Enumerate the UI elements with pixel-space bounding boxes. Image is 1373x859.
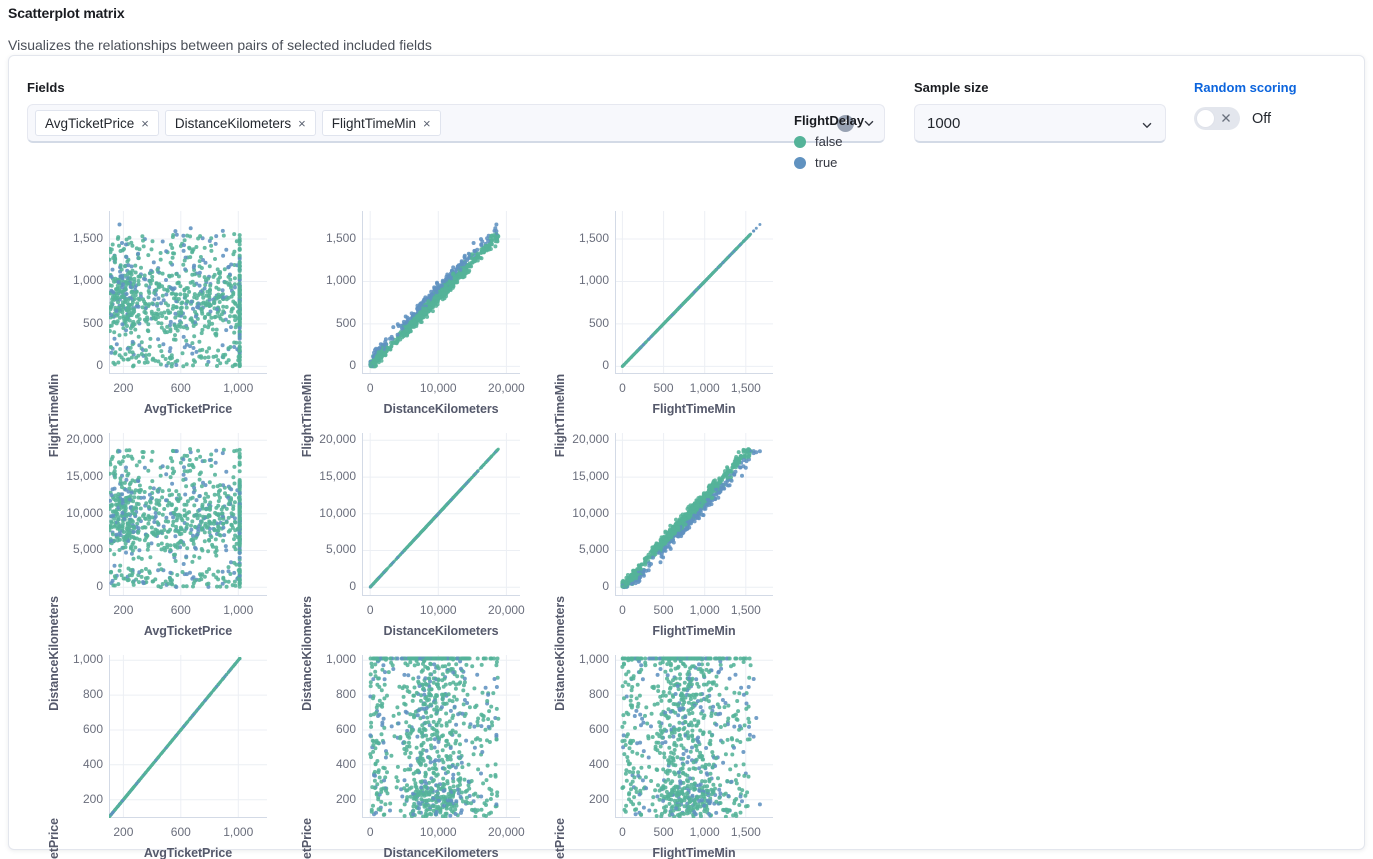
close-icon[interactable]: × [298, 117, 306, 130]
x-axis-tick: 0 [335, 603, 405, 617]
x-axis-label: FlightTimeMin [615, 402, 773, 416]
x-axis-label: AvgTicketPrice [109, 624, 267, 638]
x-axis-label: FlightTimeMin [615, 624, 773, 638]
matrix-cell[interactable]: DistanceKilometers 05,00010,00015,00020,… [274, 421, 527, 645]
y-axis-tick: 800 [43, 687, 103, 701]
y-axis-tick: 400 [43, 757, 103, 771]
sample-size-label: Sample size [914, 80, 1166, 95]
matrix-cell[interactable]: AvgTicketPrice 2004006008001,000 05001,0… [527, 643, 780, 859]
y-axis-tick: 500 [43, 316, 103, 330]
y-axis-tick: 600 [43, 722, 103, 736]
y-axis-tick: 800 [296, 687, 356, 701]
matrix-cell[interactable]: FlightTimeMin 05001,0001,500 2006001,000… [21, 199, 274, 423]
page-title: Scatterplot matrix [8, 5, 125, 21]
random-scoring-switch[interactable] [1194, 107, 1240, 130]
cross-icon [1219, 111, 1233, 125]
x-axis-label: AvgTicketPrice [109, 846, 267, 859]
y-axis-tick: 200 [296, 792, 356, 806]
y-axis-tick: 0 [296, 358, 356, 372]
y-axis-tick: 0 [296, 579, 356, 593]
y-axis-tick: 400 [296, 757, 356, 771]
y-axis-tick: 15,000 [549, 469, 609, 483]
y-axis-tick: 400 [549, 757, 609, 771]
y-axis-tick: 5,000 [549, 542, 609, 556]
fields-control: Fields AvgTicketPrice × DistanceKilomete… [27, 80, 885, 143]
y-axis-tick: 0 [549, 358, 609, 372]
scatter-plot-area [362, 211, 520, 374]
scatterplot-matrix-page: Scatterplot matrix Visualizes the relati… [0, 0, 1373, 859]
sample-size-control: Sample size 1000 [914, 80, 1166, 143]
field-pill-label: AvgTicketPrice [45, 116, 134, 131]
y-axis-tick: 1,000 [549, 652, 609, 666]
y-axis-tick: 15,000 [296, 469, 356, 483]
field-pill[interactable]: AvgTicketPrice × [35, 110, 159, 136]
matrix-cell[interactable]: FlightTimeMin 05001,0001,500 05001,0001,… [527, 199, 780, 423]
y-axis-tick: 1,000 [296, 273, 356, 287]
random-scoring-label[interactable]: Random scoring [1194, 80, 1354, 95]
y-axis-tick: 20,000 [43, 432, 103, 446]
legend: FlightDelay false true [794, 113, 864, 170]
matrix-row: FlightTimeMin 05001,0001,500 2006001,000… [21, 199, 1364, 423]
y-axis-tick: 1,000 [549, 273, 609, 287]
y-axis-tick: 10,000 [43, 506, 103, 520]
close-icon[interactable]: × [141, 117, 149, 130]
scatter-plot-area [109, 211, 267, 374]
legend-item-false[interactable]: false [794, 134, 864, 149]
x-axis-label: DistanceKilometers [362, 846, 520, 859]
scatter-plot-area [109, 655, 267, 818]
fields-label: Fields [27, 80, 885, 95]
legend-item-label: false [815, 134, 842, 149]
y-axis-tick: 10,000 [296, 506, 356, 520]
y-axis-tick: 20,000 [549, 432, 609, 446]
y-axis-tick: 0 [43, 358, 103, 372]
y-axis-label: AvgTicketPrice [47, 818, 61, 859]
matrix-cell[interactable]: DistanceKilometers 05,00010,00015,00020,… [21, 421, 274, 645]
field-pill-label: DistanceKilometers [175, 116, 291, 131]
legend-item-true[interactable]: true [794, 155, 864, 170]
y-axis-tick: 1,000 [43, 273, 103, 287]
y-axis-tick: 600 [549, 722, 609, 736]
x-axis-tick: 1,000 [203, 381, 273, 395]
y-axis-tick: 15,000 [43, 469, 103, 483]
y-axis-tick: 20,000 [296, 432, 356, 446]
y-axis-tick: 500 [296, 316, 356, 330]
y-axis-tick: 0 [43, 579, 103, 593]
matrix-cell[interactable]: DistanceKilometers 05,00010,00015,00020,… [527, 421, 780, 645]
sample-size-select[interactable]: 1000 [914, 104, 1166, 143]
x-axis-label: FlightTimeMin [615, 846, 773, 859]
y-axis-tick: 600 [296, 722, 356, 736]
fields-combobox[interactable]: AvgTicketPrice × DistanceKilometers × Fl… [27, 104, 885, 143]
matrix-row: AvgTicketPrice 2004006008001,000 2006001… [21, 643, 1364, 859]
x-axis-tick: 1,000 [203, 603, 273, 617]
y-axis-tick: 5,000 [43, 542, 103, 556]
page-subtitle: Visualizes the relationships between pai… [8, 37, 432, 53]
scatter-plot-area [615, 655, 773, 818]
x-axis-label: AvgTicketPrice [109, 402, 267, 416]
legend-color-swatch [794, 136, 806, 148]
random-scoring-state: Off [1252, 111, 1271, 127]
y-axis-label: AvgTicketPrice [553, 818, 567, 859]
field-pill-label: FlightTimeMin [332, 116, 416, 131]
controls-row: Fields AvgTicketPrice × DistanceKilomete… [9, 56, 1364, 156]
random-scoring-control: Random scoring Off [1194, 80, 1354, 130]
chevron-down-icon[interactable] [862, 116, 876, 130]
y-axis-tick: 800 [549, 687, 609, 701]
y-axis-tick: 200 [43, 792, 103, 806]
matrix-cell[interactable]: AvgTicketPrice 2004006008001,000 2006001… [21, 643, 274, 859]
scatterplot-matrix: FlightTimeMin 05001,0001,500 2006001,000… [9, 156, 1364, 859]
x-axis-tick: 1,500 [711, 603, 781, 617]
y-axis-tick: 1,000 [296, 652, 356, 666]
x-axis-tick: 10,000 [403, 825, 473, 839]
y-axis-label: AvgTicketPrice [300, 818, 314, 859]
y-axis-tick: 0 [549, 579, 609, 593]
y-axis-tick: 5,000 [296, 542, 356, 556]
scatter-plot-area [362, 655, 520, 818]
y-axis-tick: 10,000 [549, 506, 609, 520]
matrix-cell[interactable]: FlightTimeMin 05001,0001,500 010,00020,0… [274, 199, 527, 423]
x-axis-tick: 1,500 [711, 381, 781, 395]
x-axis-tick: 10,000 [403, 603, 473, 617]
legend-item-label: true [815, 155, 837, 170]
x-axis-tick: 1,500 [711, 825, 781, 839]
field-pill[interactable]: FlightTimeMin × [322, 110, 441, 136]
x-axis-tick: 10,000 [403, 381, 473, 395]
legend-title: FlightDelay [794, 113, 864, 128]
legend-color-swatch [794, 157, 806, 169]
scatter-plot-area [615, 433, 773, 596]
visualization-panel: Fields AvgTicketPrice × DistanceKilomete… [8, 55, 1365, 850]
scatter-plot-area [109, 433, 267, 596]
x-axis-tick: 0 [335, 825, 405, 839]
field-pill[interactable]: DistanceKilometers × [165, 110, 316, 136]
matrix-cell[interactable]: AvgTicketPrice 2004006008001,000 010,000… [274, 643, 527, 859]
sample-size-value: 1000 [927, 115, 960, 132]
y-axis-tick: 200 [549, 792, 609, 806]
x-axis-label: DistanceKilometers [362, 402, 520, 416]
random-scoring-toggle-row: Off [1194, 107, 1354, 130]
switch-knob [1196, 109, 1215, 128]
x-axis-tick: 1,000 [203, 825, 273, 839]
y-axis-tick: 500 [549, 316, 609, 330]
x-axis-tick: 0 [335, 381, 405, 395]
x-axis-label: DistanceKilometers [362, 624, 520, 638]
y-axis-tick: 1,500 [43, 231, 103, 245]
y-axis-tick: 1,500 [549, 231, 609, 245]
y-axis-tick: 1,500 [296, 231, 356, 245]
scatter-plot-area [615, 211, 773, 374]
close-icon[interactable]: × [423, 117, 431, 130]
scatter-plot-area [362, 433, 520, 596]
matrix-row: DistanceKilometers 05,00010,00015,00020,… [21, 421, 1364, 645]
y-axis-tick: 1,000 [43, 652, 103, 666]
